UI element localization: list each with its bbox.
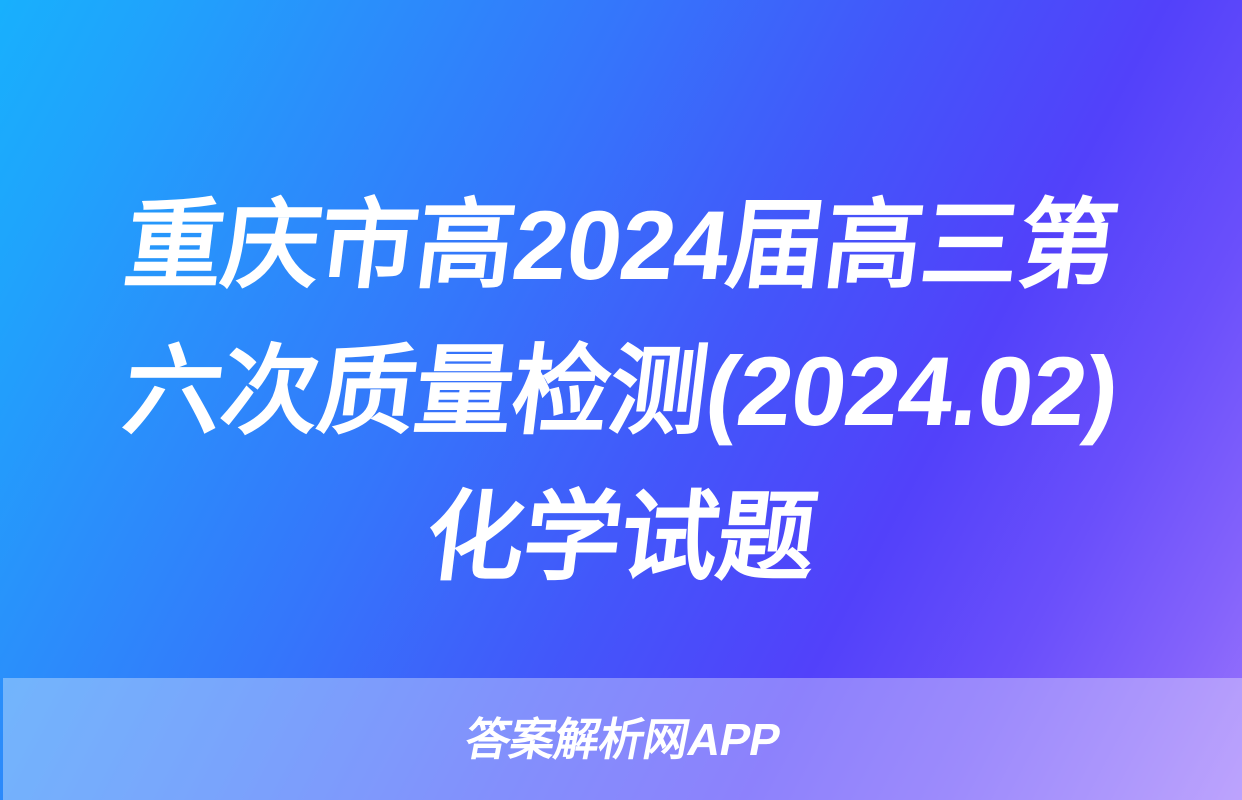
title-line-2: 六次质量检测(2024.02) — [15, 318, 1227, 464]
page-title: 重庆市高2024届高三第 六次质量检测(2024.02) 化学试题 — [0, 172, 1242, 610]
footer-brand-band: 答案解析网APP — [3, 678, 1242, 800]
title-line-3: 化学试题 — [15, 464, 1227, 610]
poster-banner: 重庆市高2024届高三第 六次质量检测(2024.02) 化学试题 答案解析网A… — [0, 0, 1242, 800]
app-brand-label: 答案解析网APP — [461, 717, 783, 762]
title-line-1: 重庆市高2024届高三第 — [15, 172, 1227, 318]
